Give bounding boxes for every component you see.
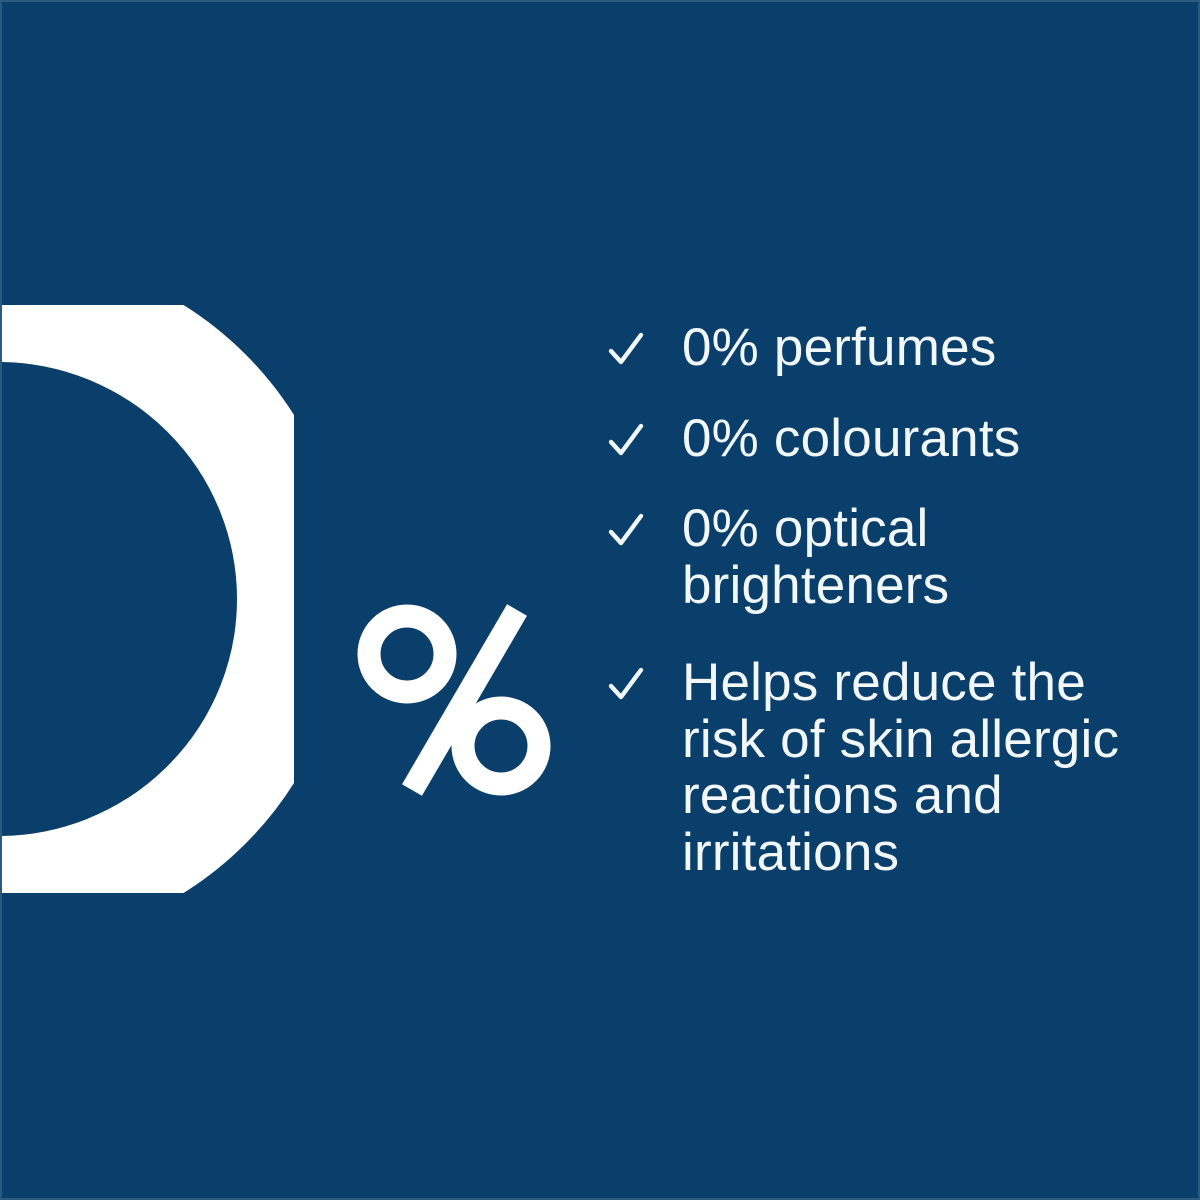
zero-ring-stroke [0,307,292,891]
claim-label-optical-brighteners: 0% optical brighteners [682,501,1168,614]
check-icon [608,332,644,368]
check-icon [608,667,644,703]
promo-panel: 0% perfumes 0% colourants 0% optical bri… [0,0,1200,1200]
check-icon-wrap [608,501,682,549]
zero-ring-graphic [0,305,294,893]
claims-list: 0% perfumes 0% colourants 0% optical bri… [608,320,1168,882]
check-icon [608,513,644,549]
claim-label-perfumes: 0% perfumes [682,320,1168,377]
percent-symbol-graphic [354,604,554,796]
check-icon [608,423,644,459]
list-item: 0% colourants [608,411,1168,468]
claim-label-skin-allergy: Helps reduce the risk of skin allergic r… [682,655,1168,882]
check-icon-wrap [608,411,682,459]
list-item: 0% optical brighteners [608,501,1168,614]
check-icon-wrap [608,320,682,368]
claim-label-colourants: 0% colourants [682,411,1168,468]
list-item: Helps reduce the risk of skin allergic r… [608,655,1168,882]
percent-upper-counter [369,616,445,692]
list-item: 0% perfumes [608,320,1168,377]
check-icon-wrap [608,655,682,703]
percent-lower-counter [463,708,539,784]
